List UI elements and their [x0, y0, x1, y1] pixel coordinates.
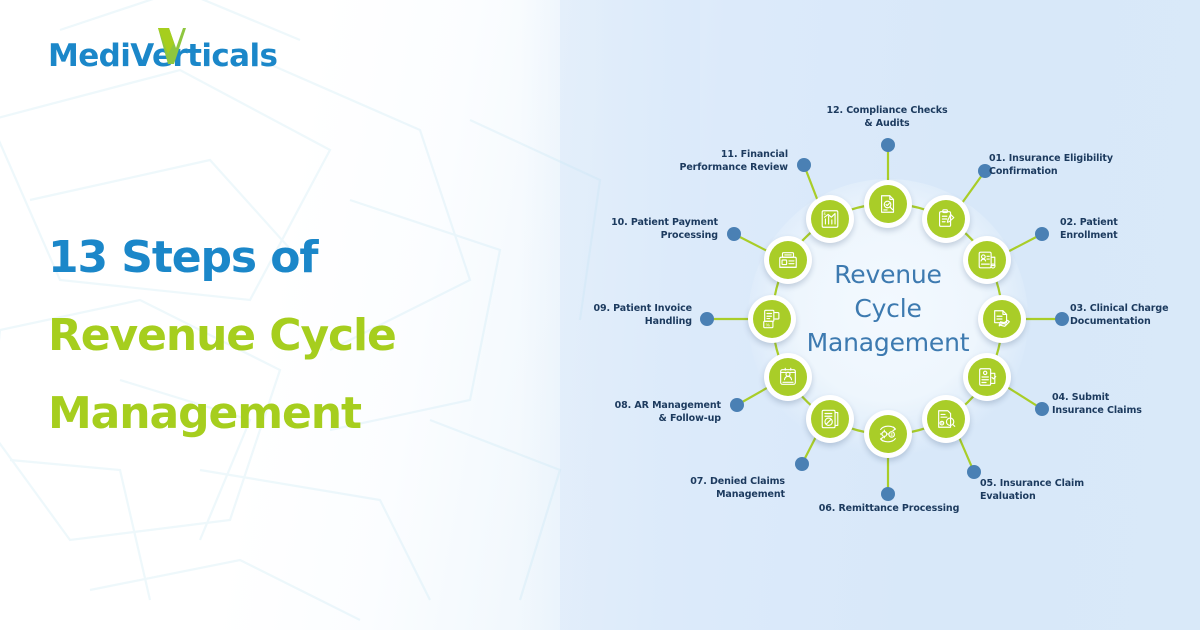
step-node-05[interactable]: $ [922, 395, 970, 443]
step-label-01: 01. Insurance Eligibility Confirmation [989, 153, 1149, 178]
charge-document-icon [983, 300, 1021, 338]
svg-text:%: % [766, 322, 770, 327]
ar-management-icon [769, 358, 807, 396]
step-label-12: 12. Compliance Checks & Audits [812, 105, 962, 130]
step-dot-03[interactable] [1055, 312, 1069, 326]
center-title-line-3: Management [778, 326, 998, 360]
headline-line-1: 13 Steps of [48, 236, 518, 280]
step-label-07: 07. Denied Claims Management [630, 476, 785, 501]
step-label-08: 08. AR Management & Follow-up [575, 400, 721, 425]
step-label-06: 06. Remittance Processing [803, 503, 975, 516]
step-dot-05[interactable] [967, 465, 981, 479]
step-label-11: 11. Financial Performance Review [628, 149, 788, 174]
step-label-05: 05. Insurance Claim Evaluation [980, 478, 1130, 503]
patient-record-icon [968, 241, 1006, 279]
clipboard-pen-icon [927, 200, 965, 238]
step-node-10[interactable] [764, 236, 812, 284]
step-label-10: 10. Patient Payment Processing [578, 217, 718, 242]
brand-logo[interactable]: MediVerticals [48, 38, 277, 74]
step-dot-04[interactable] [1035, 402, 1049, 416]
step-node-09[interactable]: % [748, 295, 796, 343]
step-node-08[interactable] [764, 353, 812, 401]
step-label-04: 04. Submit Insurance Claims [1052, 392, 1192, 417]
step-label-09: 09. Patient Invoice Handling [552, 303, 692, 328]
revenue-cycle-wheel: Revenue Cycle Management [600, 60, 1200, 580]
compliance-audit-icon [869, 185, 907, 223]
step-label-02: 02. Patient Enrollment [1060, 217, 1200, 242]
headline-line-3: Management [48, 392, 518, 436]
brand-letter-v: V [130, 38, 152, 74]
step-node-01[interactable] [922, 195, 970, 243]
step-dot-11[interactable] [797, 158, 811, 172]
denied-claim-icon [811, 400, 849, 438]
step-dot-09[interactable] [700, 312, 714, 326]
claim-evaluation-icon: $ [927, 400, 965, 438]
step-node-03[interactable] [978, 295, 1026, 343]
step-label-03: 03. Clinical Charge Documentation [1070, 303, 1200, 328]
step-dot-12[interactable] [881, 138, 895, 152]
step-dot-10[interactable] [727, 227, 741, 241]
headline-line-2: Revenue Cycle [48, 314, 518, 358]
brand-name-part1: Medi [48, 38, 130, 74]
svg-text:$: $ [824, 212, 826, 216]
step-node-06[interactable]: $ [864, 410, 912, 458]
infographic-canvas: MediVerticals 13 Steps of Revenue Cycle … [0, 0, 1200, 630]
payment-processing-icon [769, 241, 807, 279]
brand-name-part2: erticals [152, 38, 277, 74]
step-dot-07[interactable] [795, 457, 809, 471]
step-node-11[interactable]: $ [806, 195, 854, 243]
step-node-07[interactable] [806, 395, 854, 443]
step-node-12[interactable] [864, 180, 912, 228]
step-dot-08[interactable] [730, 398, 744, 412]
step-node-02[interactable] [963, 236, 1011, 284]
invoice-handling-icon: % [753, 300, 791, 338]
diagram-center-title: Revenue Cycle Management [778, 258, 998, 360]
remittance-gears-icon: $ [869, 415, 907, 453]
center-title-line-2: Cycle [778, 292, 998, 326]
financial-chart-icon: $ [811, 200, 849, 238]
step-dot-02[interactable] [1035, 227, 1049, 241]
step-node-04[interactable] [963, 353, 1011, 401]
brand-logo-text: MediVerticals [48, 38, 277, 74]
svg-text:$: $ [941, 421, 943, 425]
submit-claim-icon [968, 358, 1006, 396]
step-dot-06[interactable] [881, 487, 895, 501]
headline-block: 13 Steps of Revenue Cycle Management [48, 236, 518, 470]
